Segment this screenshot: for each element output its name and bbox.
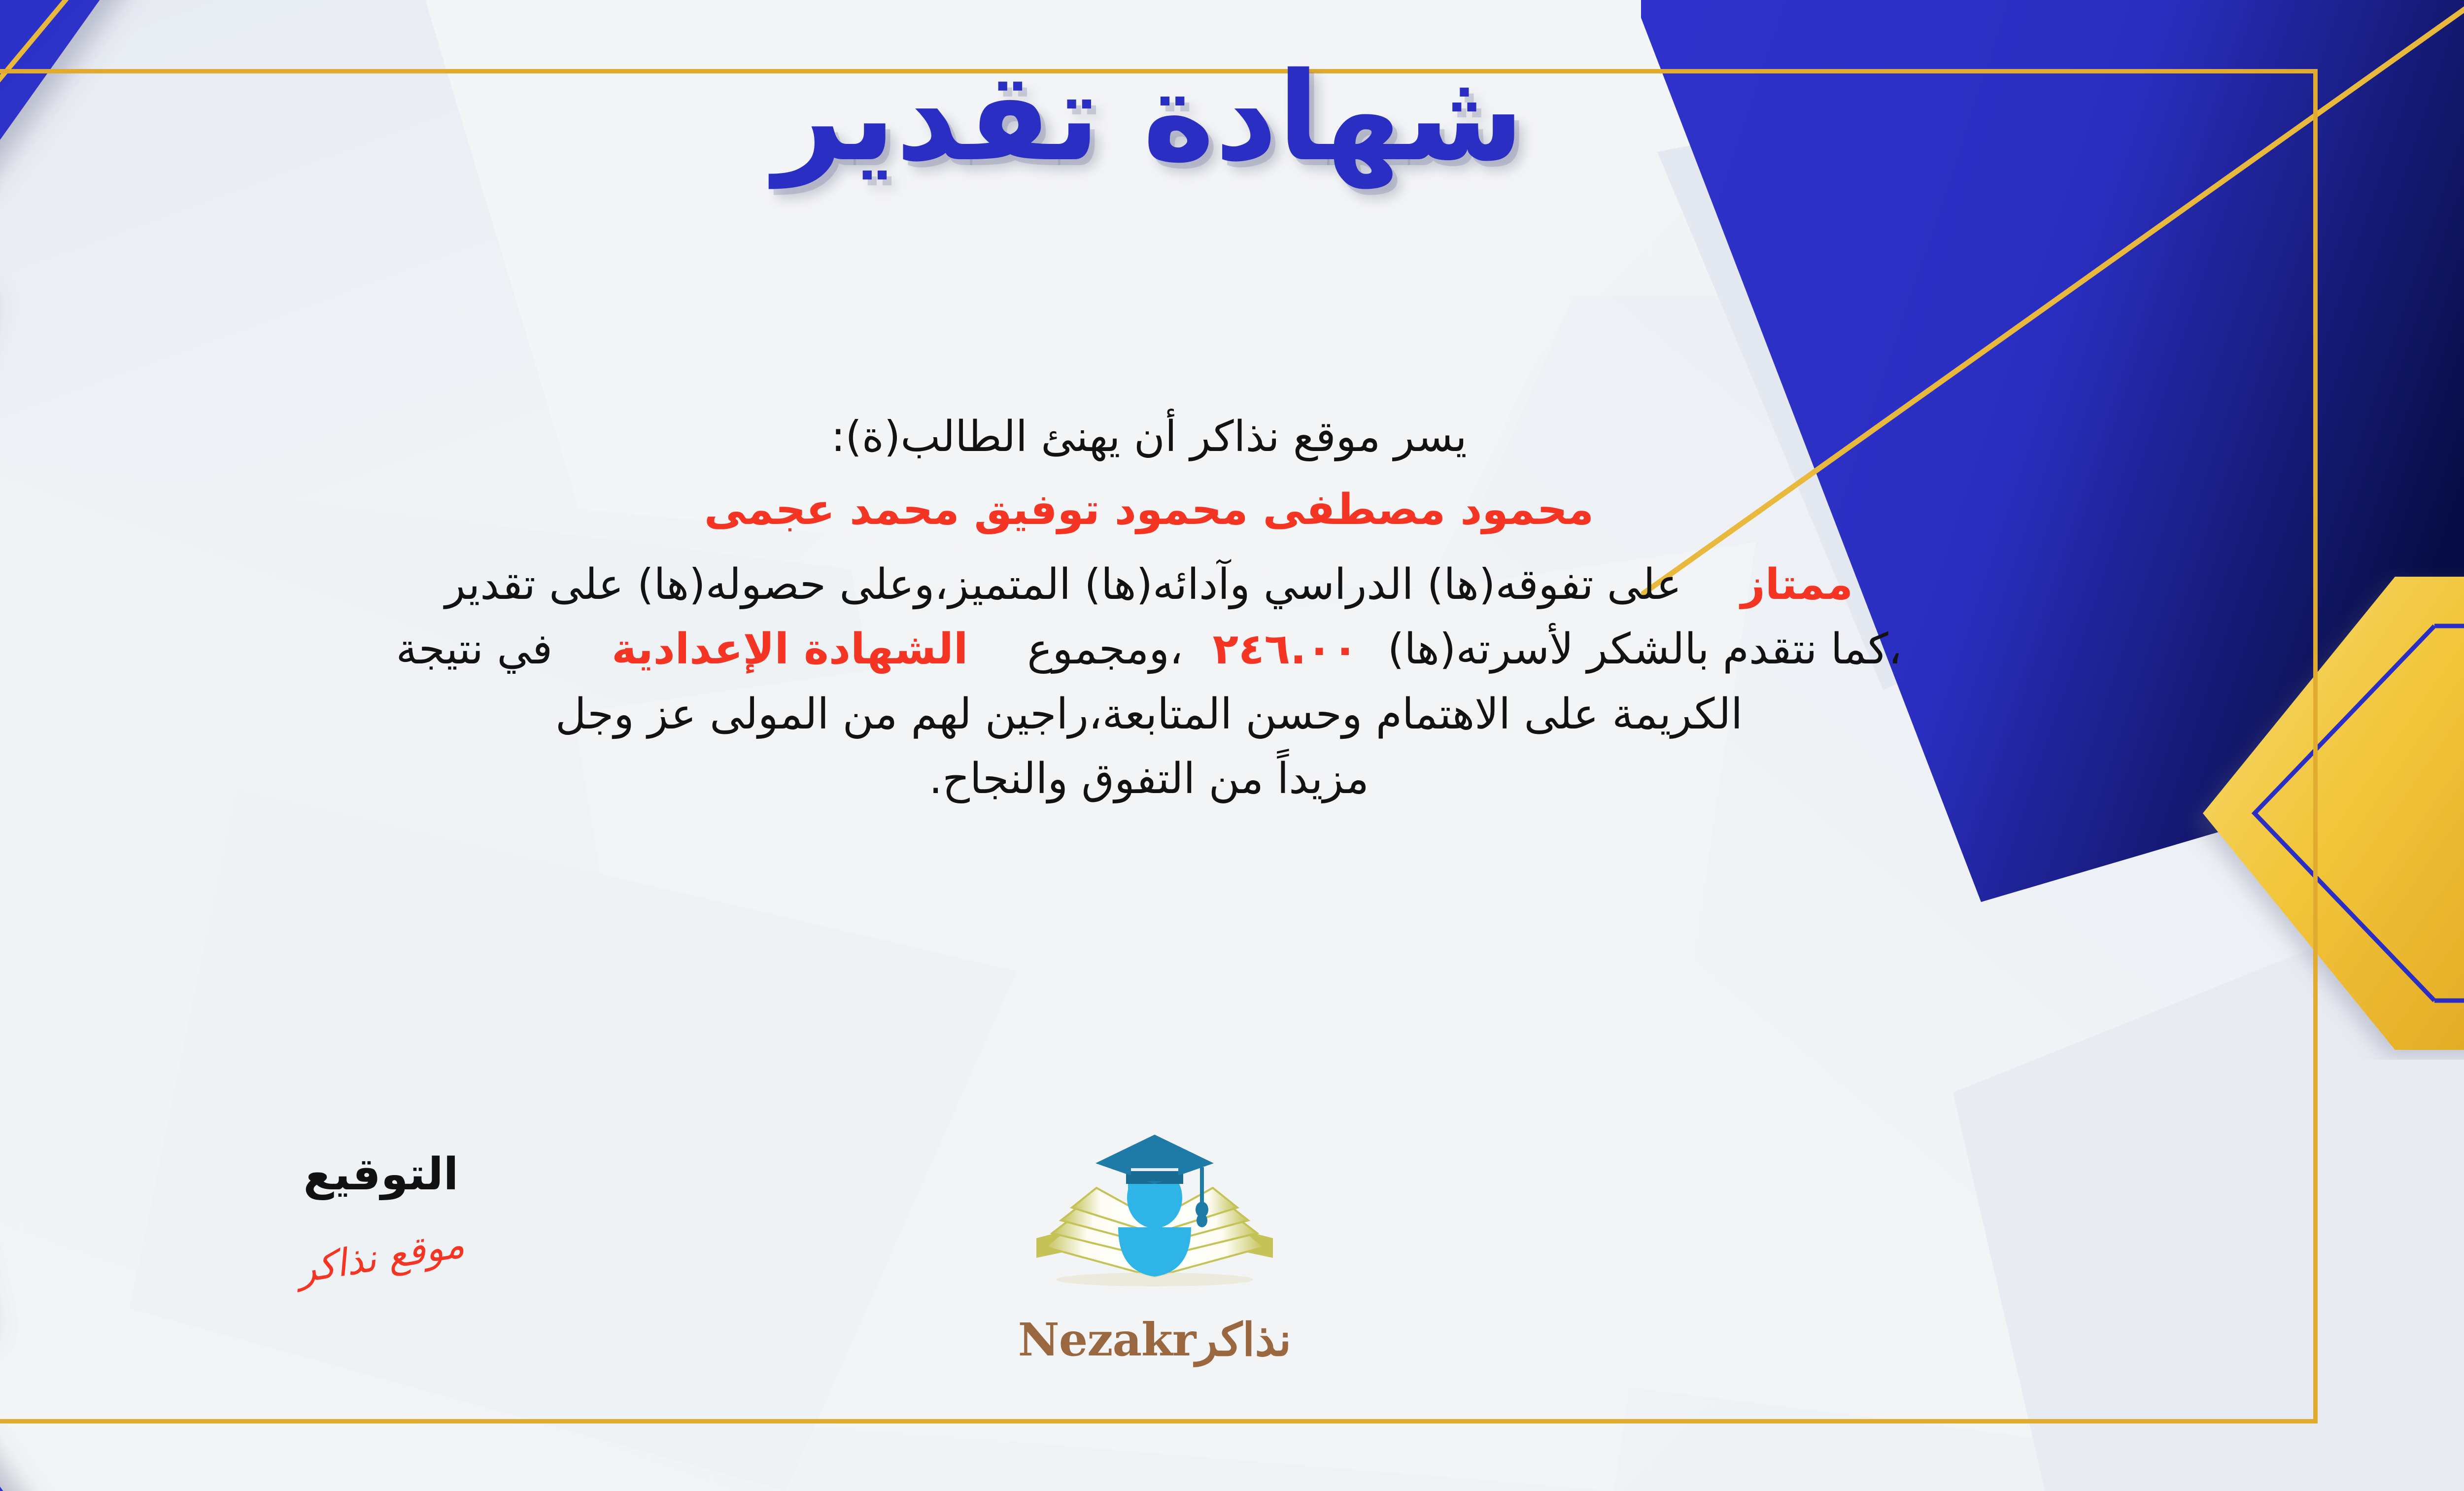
student-name: محمود مصطفى محمود توفيق محمد عجمى <box>0 485 2301 534</box>
site-logo: Nezakrنذاكر <box>958 1129 1352 1366</box>
result-text-mid: ،ومجموع <box>1027 624 1183 674</box>
signature-label: التوقيع <box>208 1148 553 1200</box>
certificate-page: شهادة تقدير يسر موقع نذاكر أن يهنئ الطال… <box>0 0 2464 1491</box>
closing-line: مزيداً من التفوق والنجاح. <box>0 751 2301 807</box>
logo-name-ar: نذاكر <box>1196 1313 1291 1366</box>
logo-graphic <box>1017 1129 1293 1311</box>
certificate-stage: الشهادة الإعدادية <box>612 624 968 674</box>
total-score: ٢٤٦.٠٠ <box>1213 624 1358 674</box>
intro-line: يسر موقع نذاكر أن يهنئ الطالب(ة): <box>0 409 2301 465</box>
certificate-body: يسر موقع نذاكر أن يهنئ الطالب(ة): محمود … <box>0 409 2301 807</box>
result-line: ،كما نتقدم بالشكر لأسرته(ها)٢٤٦.٠٠،ومجمو… <box>0 622 2301 678</box>
result-text-after: ،كما نتقدم بالشكر لأسرته(ها) <box>1388 624 1902 674</box>
thanks-line: الكريمة على الاهتمام وحسن المتابعة،راجين… <box>0 687 2301 743</box>
grade-value: ممتاز <box>1741 560 1853 609</box>
signature-block: التوقيع موقع نذاكر <box>208 1148 553 1279</box>
logo-wordmark: Nezakrنذاكر <box>958 1313 1352 1366</box>
achievement-line: ممتازعلى تفوقه(ها) الدراسي وآدائه(ها) ال… <box>0 557 2301 613</box>
logo-name-en: Nezakr <box>1018 1313 1196 1366</box>
result-text-before: في نتيجة <box>396 624 553 674</box>
achievement-text: على تفوقه(ها) الدراسي وآدائه(ها) المتميز… <box>445 560 1682 609</box>
